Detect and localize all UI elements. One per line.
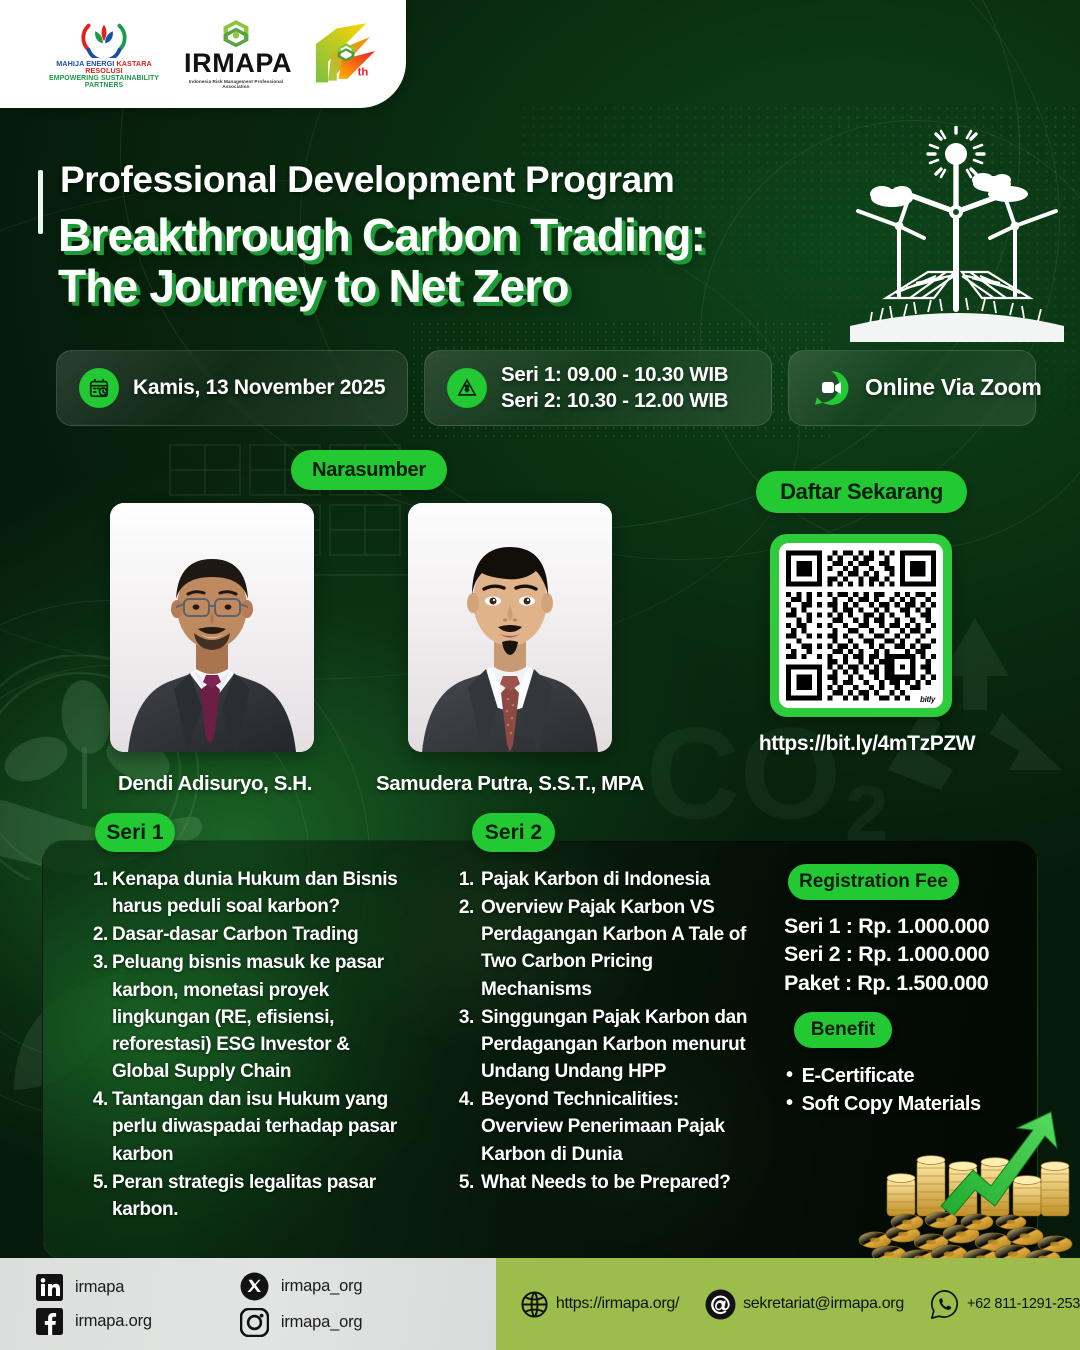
- registration-qr-code[interactable]: bitly: [770, 534, 952, 717]
- irmapa-logo: IRMAPA Indonesia Risk Management Profess…: [184, 19, 288, 89]
- agenda-column-seri-1: 1.Kenapa dunia Hukum dan Bisnis harus pe…: [86, 866, 406, 1224]
- gold-coins-growth-arrow: [845, 1098, 1080, 1268]
- anniversary-suffix: th: [358, 67, 369, 79]
- contact-website[interactable]: https://irmapa.org/: [520, 1290, 679, 1319]
- speaker-portrait-2: [408, 503, 612, 752]
- social-linkedin[interactable]: irmapa: [36, 1274, 152, 1301]
- speaker-card-1: Dendi Adisuryo, S.H.: [110, 503, 314, 796]
- wind-turbine-solar-sun-illustration: [850, 126, 1064, 342]
- mahija-mark-icon: [71, 18, 137, 58]
- mahija-energi-logo: MAHIJA ENERGI KASTARA RESOLUSI EMPOWERIN…: [42, 18, 166, 89]
- svg-text:2: 2: [845, 769, 888, 850]
- speaker-name-1: Dendi Adisuryo, S.H.: [118, 772, 312, 796]
- qr-modules: [786, 550, 936, 701]
- bullet-icon: •: [786, 1062, 793, 1089]
- speakers-row: Dendi Adisuryo, S.H.: [110, 503, 612, 796]
- agenda-list-seri-2: 1.Pajak Karbon di Indonesia 2.Overview P…: [452, 866, 752, 1196]
- social-instagram[interactable]: irmapa_org: [240, 1308, 362, 1337]
- list-item: 5.Peran strategis legalitas pasar karbon…: [86, 1169, 406, 1223]
- fee-line: Paket : Rp. 1.500.000: [784, 969, 1034, 997]
- facebook-icon: [36, 1308, 63, 1335]
- mahija-line2: EMPOWERING SUSTAINABILITY PARTNERS: [42, 75, 166, 90]
- seri-1-tag: Seri 1: [95, 813, 175, 852]
- list-item: 2.Overview Pajak Karbon VS Perdagangan K…: [452, 894, 752, 1003]
- social-x-twitter[interactable]: irmapa_org: [240, 1272, 362, 1301]
- page-title: Breakthrough Carbon Trading: The Journey…: [58, 210, 828, 313]
- irmapa-tagline: Indonesia Risk Management Professional A…: [184, 79, 288, 89]
- title-accent-bar: [38, 170, 43, 234]
- footer-contact-area: https://irmapa.org/ sekretariat@irmapa.o…: [496, 1258, 1080, 1350]
- contact-text: sekretariat@irmapa.org: [743, 1295, 904, 1313]
- globe-icon: [520, 1290, 549, 1319]
- list-item: 4.Tantangan dan isu Hukum yang perlu diw…: [86, 1086, 406, 1167]
- contact-text: https://irmapa.org/: [556, 1295, 679, 1313]
- linkedin-icon: [36, 1274, 63, 1301]
- benefit-tag: Benefit: [794, 1012, 892, 1048]
- list-item: 3.Peluang bisnis masuk ke pasar karbon, …: [86, 949, 406, 1085]
- video-camera-icon: [811, 368, 851, 408]
- fee-line: Seri 1 : Rp. 1.000.000: [784, 912, 1034, 940]
- agenda-list-seri-1: 1.Kenapa dunia Hukum dan Bisnis harus pe…: [86, 866, 406, 1223]
- registration-url[interactable]: https://bit.ly/4mTzPZW: [742, 732, 992, 756]
- calendar-clock-icon: [79, 368, 119, 408]
- poster-canvas: CO 2 MAHIJA EN: [0, 0, 1080, 1350]
- bitly-watermark: bitly: [920, 695, 935, 704]
- at-email-icon: [705, 1289, 736, 1320]
- event-date-text: Kamis, 13 November 2025: [133, 375, 385, 402]
- speaker-name-2: Samudera Putra, S.S.T., MPA: [376, 772, 644, 796]
- contact-text: +62 811-1291-253: [967, 1296, 1080, 1312]
- speaker-portrait-1: [110, 503, 314, 752]
- bullet-icon: •: [786, 1090, 793, 1117]
- event-date-pill: Kamis, 13 November 2025: [56, 350, 408, 426]
- footer-social-area: irmapa irmapa.org irmapa_org: [0, 1258, 496, 1350]
- title-block: Professional Development Program Breakth…: [38, 160, 828, 313]
- list-item: 1.Pajak Karbon di Indonesia: [452, 866, 752, 893]
- social-column-1: irmapa irmapa.org: [36, 1274, 152, 1335]
- social-facebook[interactable]: irmapa.org: [36, 1308, 152, 1335]
- list-item: 5.What Needs to be Prepared?: [452, 1169, 752, 1196]
- social-handle: irmapa.org: [75, 1312, 152, 1331]
- daftar-sekarang-tag: Daftar Sekarang: [756, 471, 967, 513]
- seri-2-tag: Seri 2: [472, 813, 555, 852]
- anniversary-wing-icon: th: [302, 18, 382, 89]
- social-column-2: irmapa_org irmapa_org: [240, 1272, 362, 1337]
- social-handle: irmapa_org: [281, 1313, 362, 1332]
- event-time-pill: Seri 1: 09.00 - 10.30 WIB Seri 2: 10.30 …: [424, 350, 772, 426]
- registration-fee-tag: Registration Fee: [788, 864, 959, 900]
- list-item: 2.Dasar-dasar Carbon Trading: [86, 921, 406, 948]
- social-handle: irmapa_org: [281, 1277, 362, 1296]
- title-line-2: The Journey to Net Zero: [58, 261, 828, 313]
- whatsapp-icon: [930, 1289, 960, 1319]
- irmapa-wordmark: IRMAPA: [184, 50, 288, 77]
- mahija-line1: MAHIJA ENERGI KASTARA RESOLUSI: [42, 60, 166, 75]
- list-item: •E-Certificate: [786, 1062, 1036, 1090]
- fee-line: Seri 2 : Rp. 1.000.000: [784, 940, 1034, 968]
- registration-fee-list: Seri 1 : Rp. 1.000.000 Seri 2 : Rp. 1.00…: [784, 912, 1034, 997]
- list-item: 1.Kenapa dunia Hukum dan Bisnis harus pe…: [86, 866, 406, 920]
- list-item: 4.Beyond Technicalities: Overview Peneri…: [452, 1086, 752, 1167]
- money-triangle-icon: [447, 368, 487, 408]
- speaker-card-2: Samudera Putra, S.S.T., MPA: [408, 503, 612, 796]
- social-handle: irmapa: [75, 1278, 124, 1297]
- program-kicker: Professional Development Program: [60, 160, 828, 200]
- instagram-icon: [240, 1308, 269, 1337]
- event-info-pills: Kamis, 13 November 2025 Seri 1: 09.00 - …: [56, 350, 1036, 426]
- title-line-1: Breakthrough Carbon Trading:: [58, 210, 828, 262]
- anniversary-15th-logo: th: [300, 18, 384, 89]
- footer: irmapa irmapa.org irmapa_org: [0, 1258, 1080, 1350]
- event-platform-pill: Online Via Zoom: [788, 350, 1036, 426]
- contact-email[interactable]: sekretariat@irmapa.org: [705, 1289, 904, 1320]
- list-item: 3.Singgungan Pajak Karbon dan Perdaganga…: [452, 1004, 752, 1085]
- contact-whatsapp[interactable]: +62 811-1291-253: [930, 1289, 1080, 1319]
- event-platform-text: Online Via Zoom: [865, 373, 1042, 402]
- irmapa-hex-icon: [217, 19, 255, 49]
- x-twitter-icon: [240, 1272, 269, 1301]
- agenda-column-seri-2: 1.Pajak Karbon di Indonesia 2.Overview P…: [452, 866, 752, 1197]
- event-time-text: Seri 1: 09.00 - 10.30 WIB Seri 2: 10.30 …: [501, 362, 728, 414]
- logo-header-plate: MAHIJA ENERGI KASTARA RESOLUSI EMPOWERIN…: [0, 0, 406, 108]
- narasumber-tag: Narasumber: [291, 450, 447, 490]
- svg-text:CO: CO: [646, 700, 841, 846]
- qr-bitmap: bitly: [779, 543, 943, 708]
